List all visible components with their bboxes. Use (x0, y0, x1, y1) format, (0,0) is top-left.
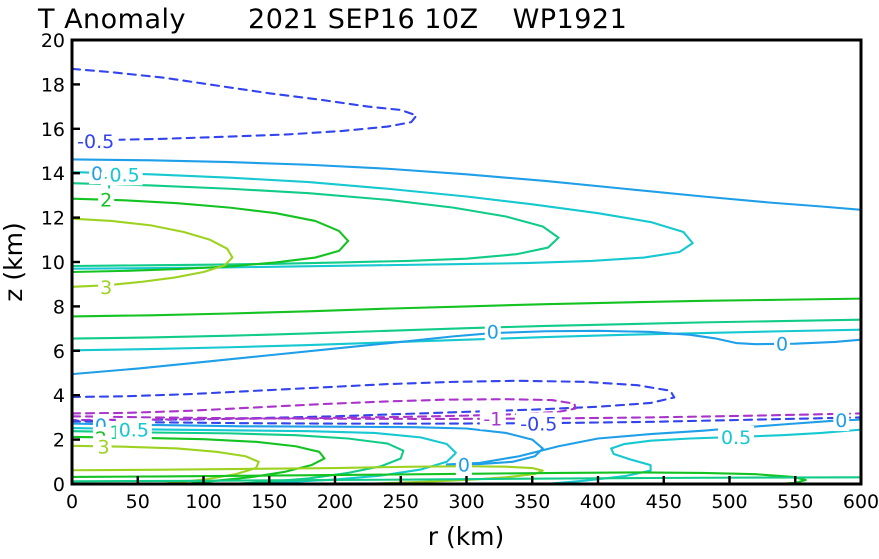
label-three-lowleft: 3 (98, 437, 110, 459)
x-axis-label: r (km) (428, 522, 505, 551)
x-tick-label: 450 (646, 491, 682, 513)
y-tick-label: 10 (41, 252, 65, 274)
x-tick-label: 500 (711, 491, 747, 513)
x-tick-label: 150 (251, 491, 287, 513)
contour-plot-page: T Anomaly 2021 SEP16 10Z WP1921 -0.5010.… (0, 0, 879, 559)
x-tick-label: 300 (448, 491, 484, 513)
y-tick-label: 14 (41, 163, 65, 185)
y-tick-label: 16 (41, 119, 65, 141)
label-two-upper: 2 (100, 189, 112, 211)
y-tick-label: 2 (53, 430, 65, 452)
contour-line-upper-three-contour (72, 219, 232, 287)
label-half-upper: 0.5 (109, 164, 139, 186)
x-tick-label: 600 (843, 491, 879, 513)
y-tick-label: 0 (53, 474, 65, 496)
label-zero-mid: 0 (487, 321, 499, 343)
y-axis-label: z (km) (0, 222, 28, 301)
label-half-lowright: 0.5 (721, 427, 751, 449)
y-tick-label: 8 (53, 296, 65, 318)
label-three-upper: 3 (100, 277, 112, 299)
y-tick-label: 18 (41, 74, 65, 96)
x-tick-label: 550 (777, 491, 813, 513)
contour-line-mid-two-lower-branch (72, 299, 861, 317)
x-tick-label: 400 (580, 491, 616, 513)
x-tick-label: 50 (126, 491, 150, 513)
x-tick-label: 350 (514, 491, 550, 513)
contour-line-mid-half-lower-branch (72, 330, 861, 351)
contour-line-upper-cold-tongue (72, 69, 417, 140)
label-zero-lowright: 0 (835, 410, 847, 432)
label-zero-right: 0 (776, 334, 788, 356)
x-tick-label: 200 (317, 491, 353, 513)
contour-line-low-half-outer-right-contour (545, 430, 861, 484)
label-neg-half-upper: -0.5 (77, 131, 114, 153)
y-tick-label: 20 (41, 30, 65, 52)
y-tick-label: 4 (53, 385, 65, 407)
contour-line-upper-zero-contour (72, 159, 861, 209)
x-tick-label: 250 (383, 491, 419, 513)
label-zero-low: 0 (458, 454, 470, 476)
contour-chart: -0.5010.52300-1-0.5000.5010.523 05010015… (0, 0, 879, 559)
label-neg-one-mid: -1 (483, 409, 502, 431)
label-neg-half-mid: -0.5 (520, 413, 557, 435)
contour-lines-layer (72, 69, 861, 484)
y-tick-label: 6 (53, 341, 65, 363)
contour-line-mid-cold-upper-branch (72, 381, 674, 421)
y-tick-label: 12 (41, 208, 65, 230)
x-tick-label: 0 (66, 491, 78, 513)
label-half-lowleft: 0.5 (119, 419, 149, 441)
x-tick-label: 100 (185, 491, 221, 513)
